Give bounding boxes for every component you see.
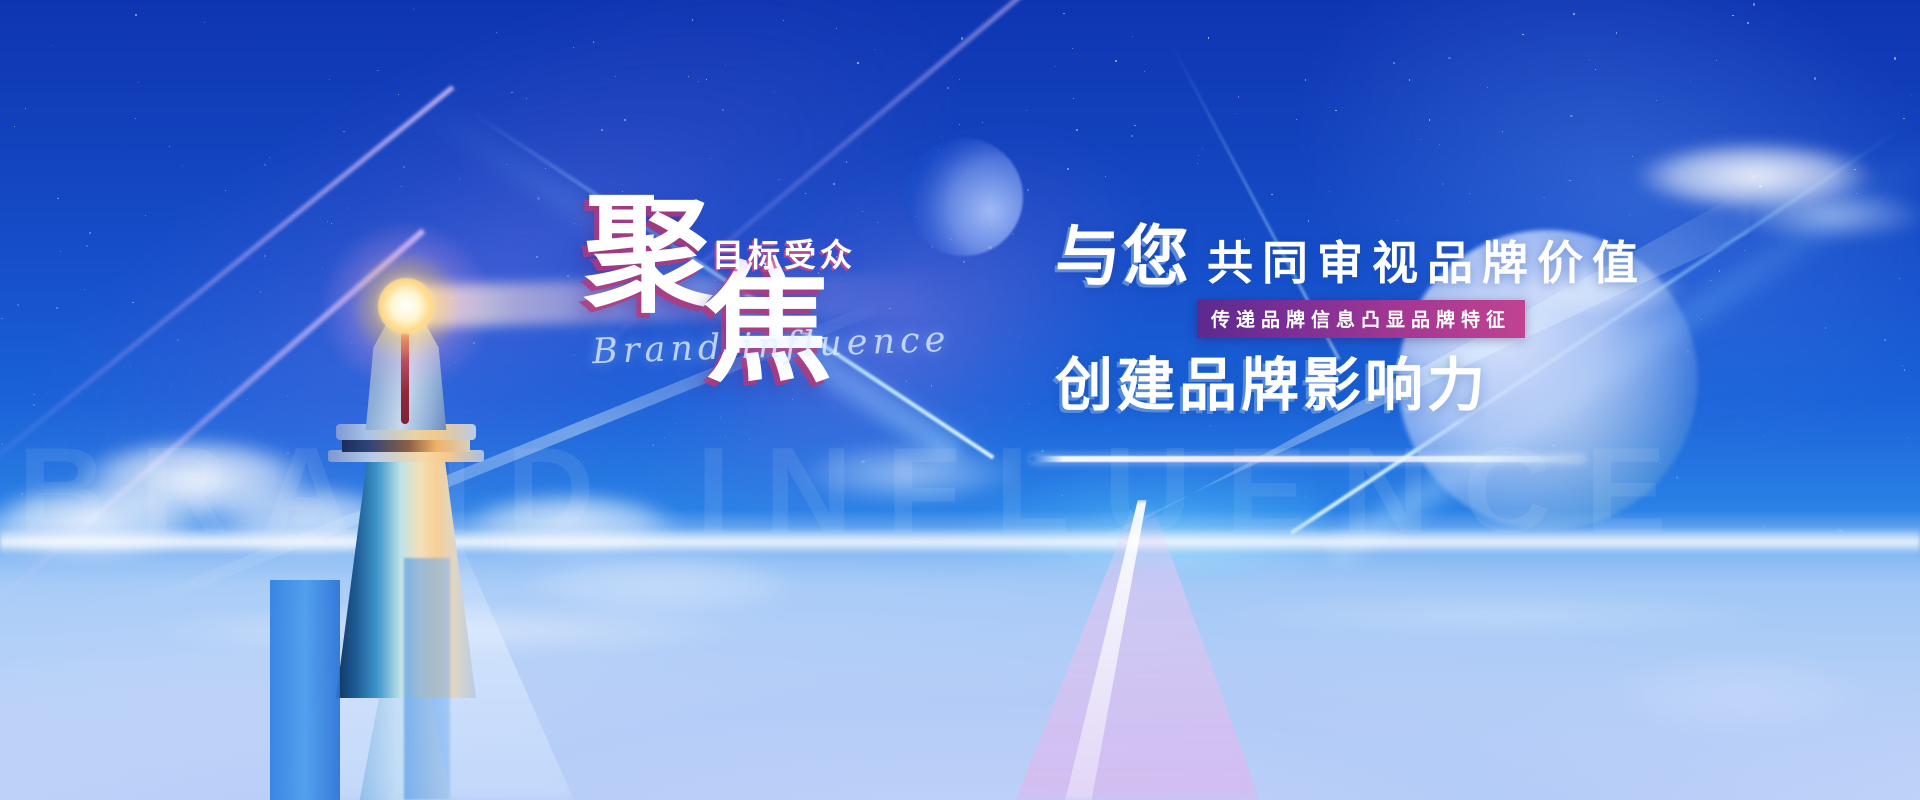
light-ray-diagonal-lower [0, 228, 425, 705]
cloud-center [760, 430, 1060, 516]
lighthouse-light-core [378, 278, 434, 334]
lighthouse-platform-top [336, 424, 476, 440]
audience-label: 目标受众 [712, 230, 856, 276]
pink-light-beam [1000, 500, 1260, 800]
watermark-text: BRAND INFLUENCE [18, 420, 1908, 560]
pen-nib-body [358, 288, 454, 430]
sea-wave-right [1080, 580, 1920, 650]
headline-line-1: 与您 共同审视品牌价值 [1055, 212, 1875, 290]
cloud-left-3 [180, 470, 440, 570]
brand-banner: BRAND INFLUENCE 聚 焦 Brand influence 目标受众… [0, 0, 1920, 800]
headline-char-ju: 聚 [584, 192, 712, 320]
horizon-glow-line [0, 528, 1920, 554]
lighthouse-pillar-right [404, 558, 450, 800]
status-badge: 传递品牌信息凸显品牌特征 [1197, 300, 1525, 338]
purple-nebula-haze [0, 0, 1203, 800]
lead-text: 与您 [1055, 224, 1191, 290]
underline-divider [1030, 456, 1586, 462]
lead-suffix-text: 共同审视品牌价值 [1207, 240, 1647, 290]
light-ray-diagonal-upper [0, 85, 454, 504]
crescent-moon-icon [905, 138, 1023, 256]
lighthouse-platform-lower [328, 450, 484, 462]
lighthouse-tower-lower [300, 694, 510, 800]
lighthouse-tower [336, 462, 476, 698]
cloud-bottom-right [1560, 640, 1920, 750]
right-text-block: 与您 共同审视品牌价值 传递品牌信息凸显品牌特征 创建品牌影响力 [1055, 212, 1875, 419]
cloud-center-left [420, 478, 720, 570]
lighthouse-platform-mid [342, 436, 470, 452]
lighthouse-pillar-left [270, 580, 340, 800]
pen-nib-lighthouse-icon [300, 228, 540, 800]
cloud-center-low [470, 540, 850, 630]
cloud-left-2 [0, 468, 240, 578]
white-light-beam [1030, 500, 1250, 800]
sea-wave-left [0, 590, 900, 670]
cloud-left-1 [30, 420, 360, 540]
sea-horizon [0, 510, 1920, 800]
cloud-top-right [1590, 128, 1920, 224]
pen-nib-slit [401, 316, 409, 424]
lighthouse-light-cone [274, 528, 574, 800]
lighthouse-glow-halo [318, 218, 494, 394]
closing-text: 创建品牌影响力 [1055, 352, 1875, 419]
